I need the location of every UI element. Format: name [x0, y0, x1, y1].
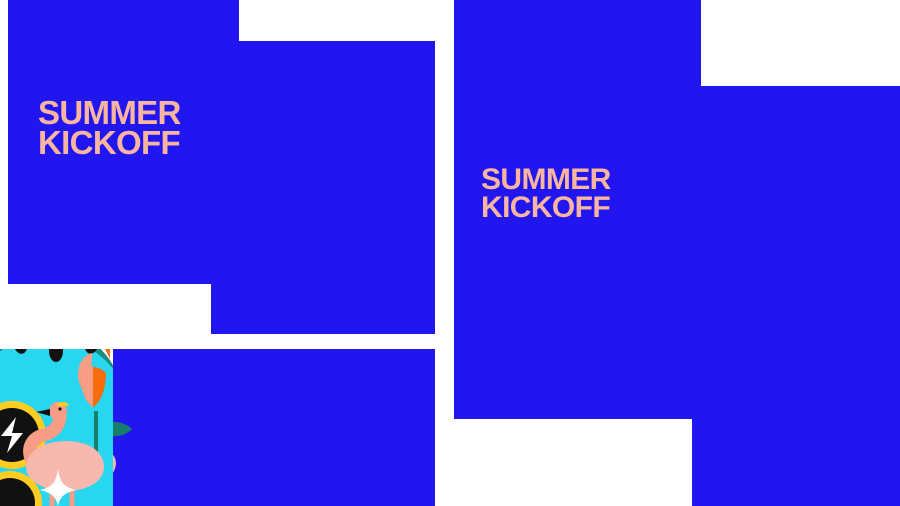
poster-right-front[interactable]: SUMMER KICKOFF: [454, 0, 701, 419]
headline-top-left: SUMMER KICKOFF: [38, 98, 181, 159]
poster-top-left-back[interactable]: [211, 41, 435, 334]
summer-collage-artwork[interactable]: [0, 349, 113, 506]
poster-composition-canvas: SUMMER KICKOFF SUMMER KICKOFF SUMMER KIC…: [0, 0, 900, 506]
headline-right: SUMMER KICKOFF: [481, 166, 611, 221]
poster-right-back[interactable]: [692, 86, 900, 506]
poster-top-left[interactable]: SUMMER KICKOFF: [8, 0, 239, 284]
